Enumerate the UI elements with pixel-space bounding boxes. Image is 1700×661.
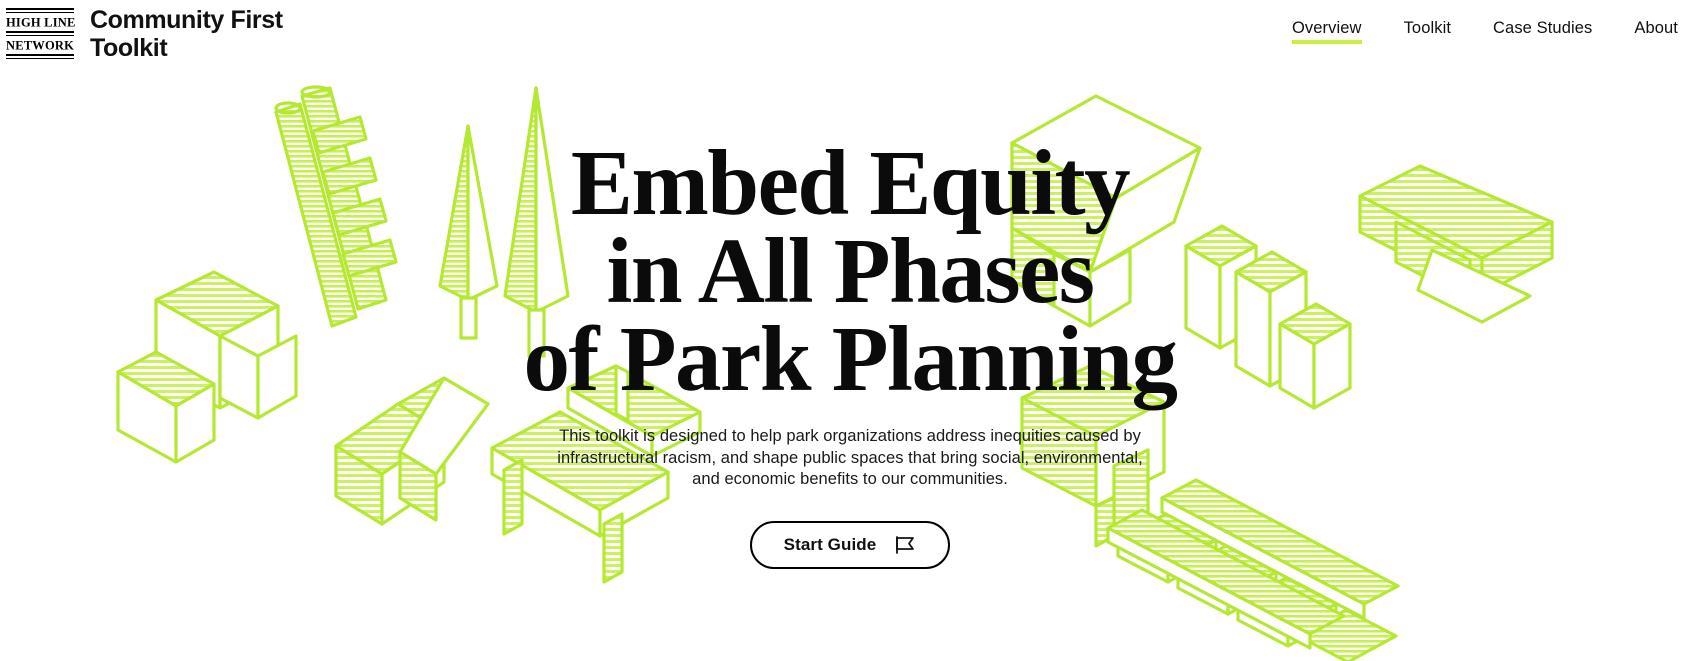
flag-icon: [894, 535, 916, 555]
hero-subheading: This toolkit is designed to help park or…: [550, 426, 1150, 491]
logo-rule-bottom: [6, 54, 74, 56]
logo-rule-bottom-2: [6, 58, 74, 60]
headline-line-3: of Park Planning: [350, 316, 1350, 404]
logo-text-line1: HIGH LINE: [6, 14, 76, 31]
start-guide-label: Start Guide: [784, 535, 877, 555]
nav-item-toolkit[interactable]: Toolkit: [1404, 18, 1451, 44]
headline-line-1: Embed Equity: [350, 140, 1350, 228]
site-title[interactable]: Community First Toolkit: [90, 6, 283, 62]
start-guide-button[interactable]: Start Guide: [750, 521, 951, 569]
logo-rule-mid: [6, 31, 74, 33]
site-title-line2: Toolkit: [90, 34, 167, 62]
logo-rule-mid-2: [6, 35, 74, 37]
logo-rule-top: [6, 8, 74, 10]
nav-item-about[interactable]: About: [1634, 18, 1678, 44]
brand[interactable]: HIGH LINE NETWORK Community First Toolki…: [0, 0, 283, 62]
nav-item-case-studies[interactable]: Case Studies: [1493, 18, 1592, 44]
site-title-line1: Community First: [90, 6, 283, 34]
main-navigation: Overview Toolkit Case Studies About: [1292, 0, 1700, 44]
hero-headline: Embed Equity in All Phases of Park Plann…: [350, 140, 1350, 404]
logo-rule-top-2: [6, 12, 74, 14]
page-root: HIGH LINE NETWORK Community First Toolki…: [0, 0, 1700, 661]
high-line-network-logo[interactable]: HIGH LINE NETWORK: [6, 6, 74, 59]
hero-section: Embed Equity in All Phases of Park Plann…: [0, 0, 1700, 661]
hero-content: Embed Equity in All Phases of Park Plann…: [0, 140, 1700, 569]
nav-item-overview[interactable]: Overview: [1292, 18, 1362, 44]
logo-text-line2: NETWORK: [6, 37, 74, 54]
hero-cta-wrapper: Start Guide: [750, 521, 951, 569]
site-header: HIGH LINE NETWORK Community First Toolki…: [0, 0, 1700, 62]
headline-line-2: in All Phases: [350, 228, 1350, 316]
